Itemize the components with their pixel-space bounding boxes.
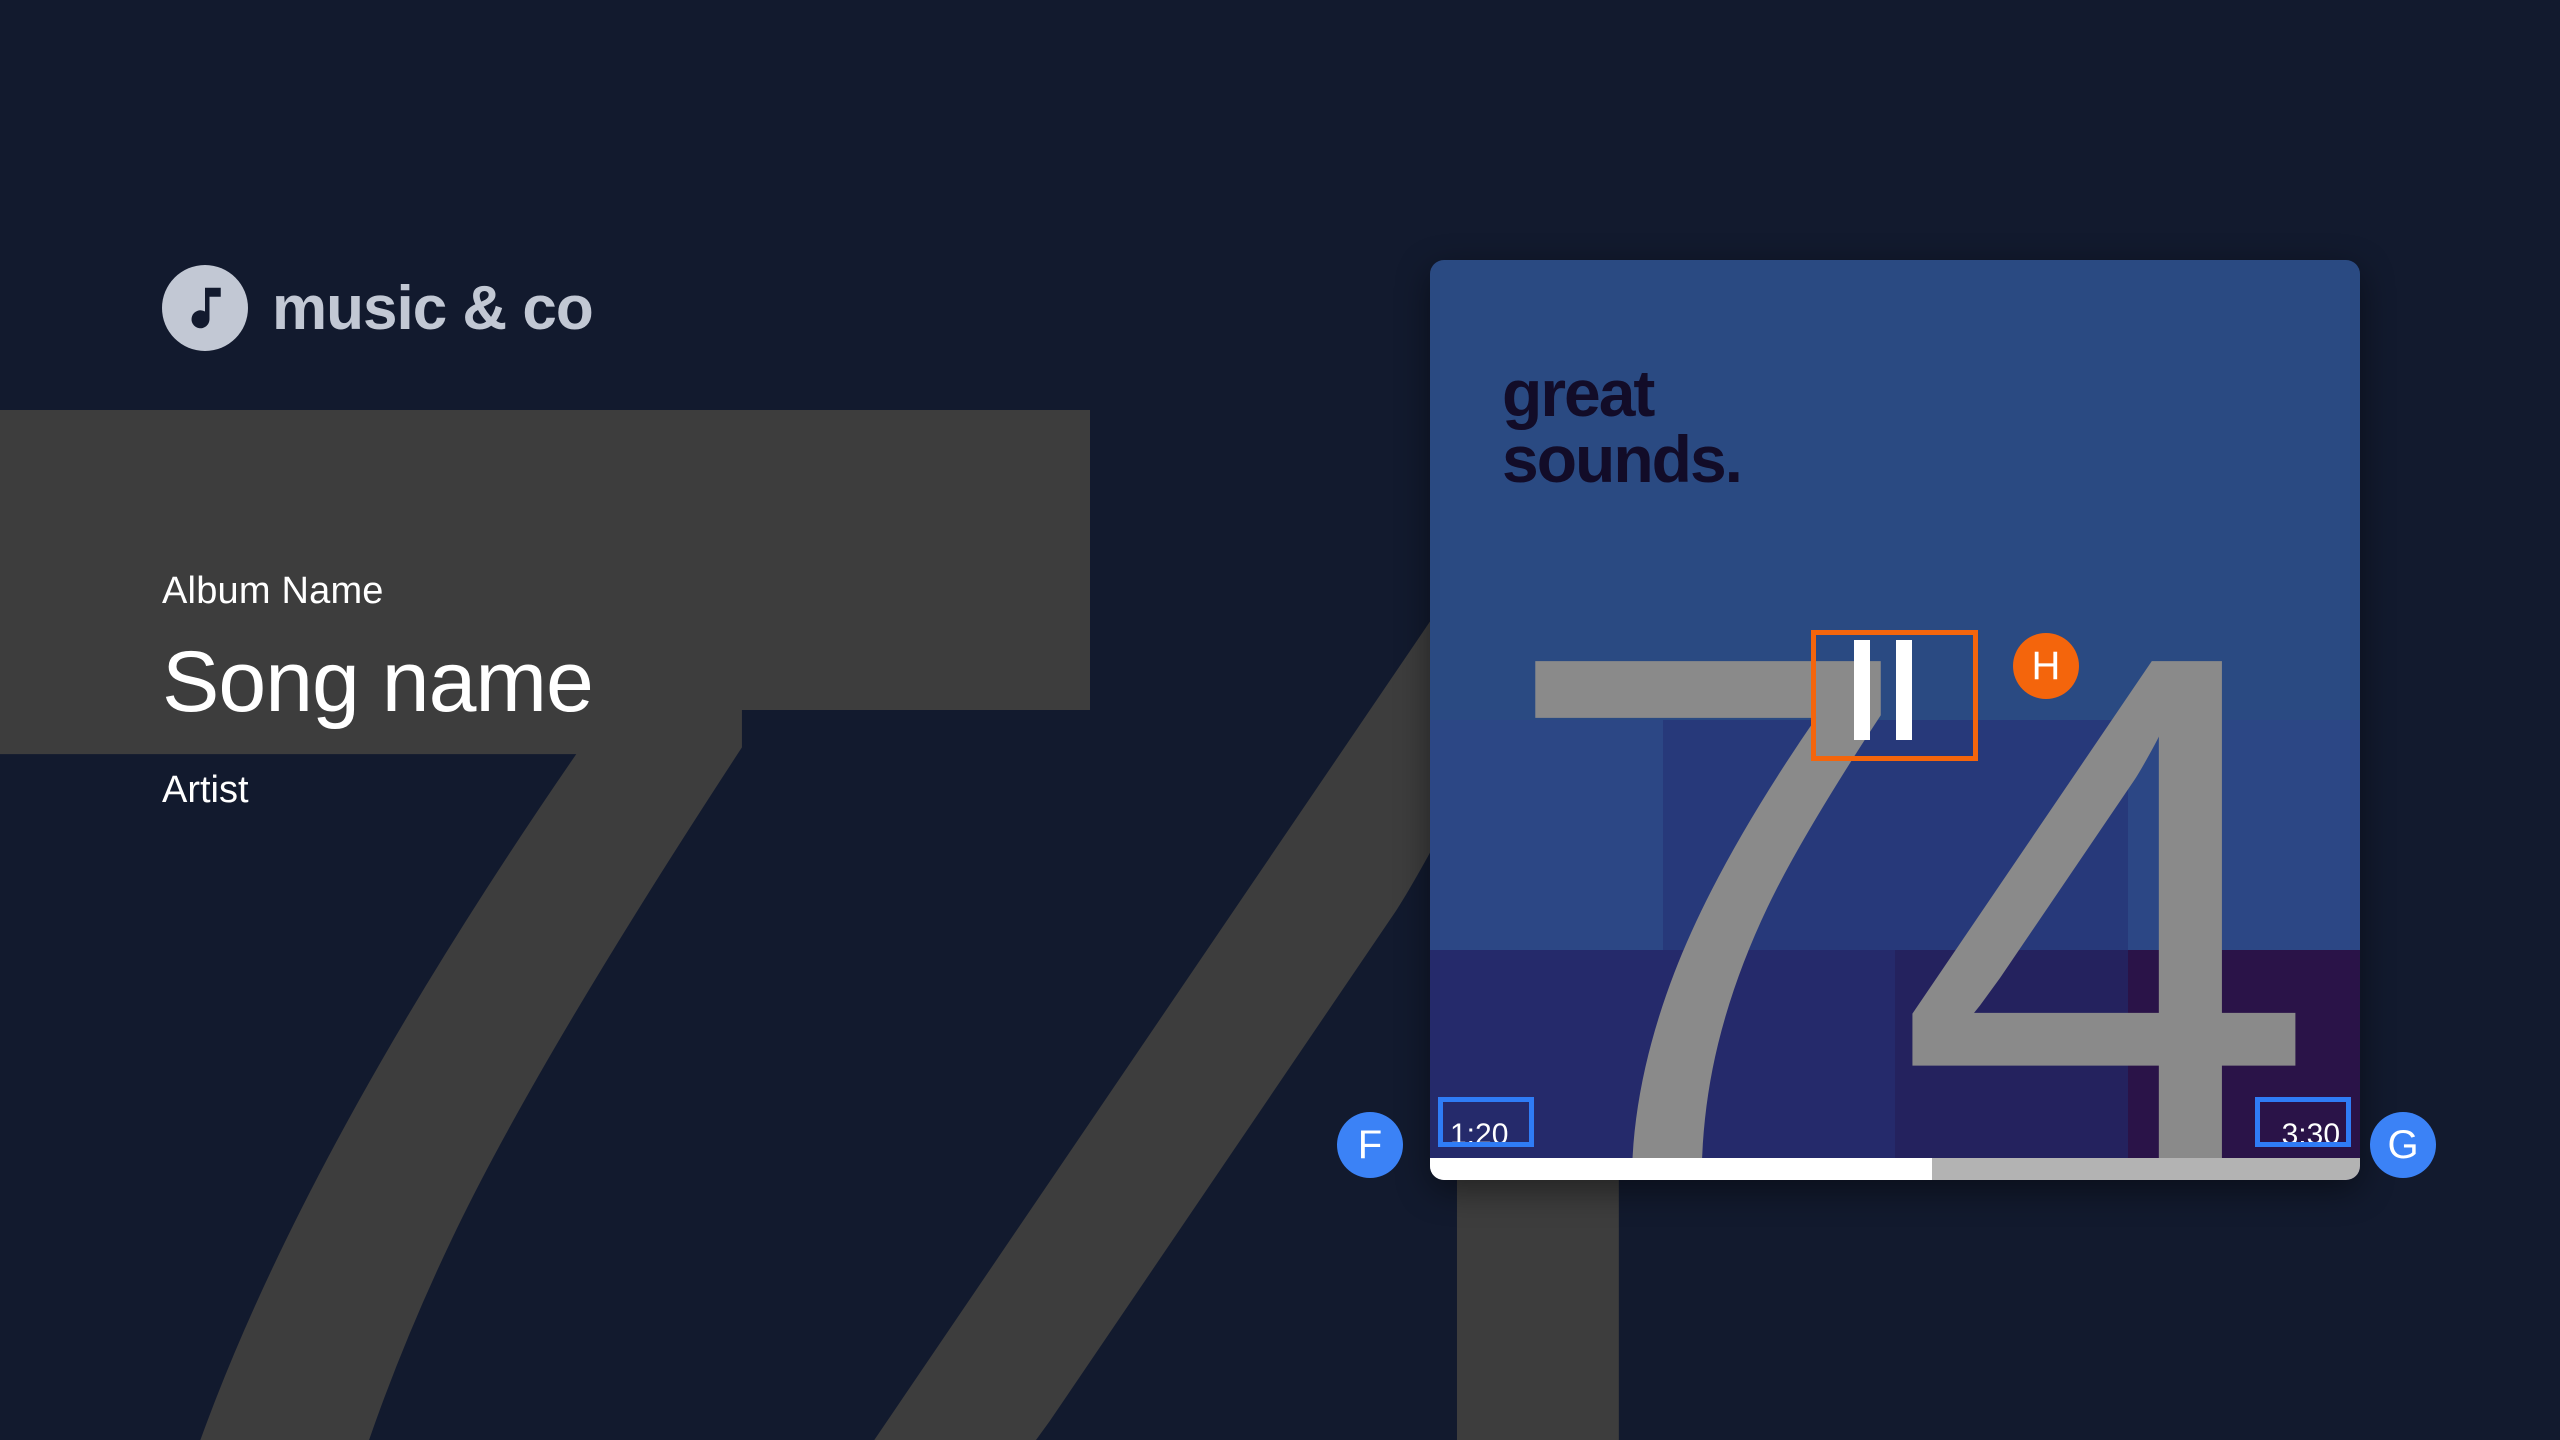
album-art-card: greatsounds. 74 1:20 3:30 (1430, 260, 2360, 1180)
progress-bar[interactable] (1430, 1158, 2360, 1180)
album-art-title-line1: great (1502, 356, 1653, 430)
annotation-badge-f: F (1337, 1112, 1403, 1178)
pause-button[interactable] (1840, 630, 1926, 750)
album-art-cell-2 (1895, 260, 2128, 490)
album-art-cell-3 (2128, 260, 2361, 490)
now-playing-info: Album Name Song name Artist (162, 570, 593, 812)
album-art-title-line2: sounds. (1502, 422, 1741, 496)
duration-time-label: 3:30 (2274, 1114, 2348, 1158)
song-name-label: Song name (162, 639, 593, 727)
progress-bar-fill (1430, 1158, 1932, 1180)
artist-name-label: Artist (162, 769, 593, 812)
brand-name: music & co (272, 273, 593, 344)
music-note-icon (162, 265, 248, 351)
annotation-badge-g: G (2370, 1112, 2436, 1178)
album-art-title: greatsounds. (1502, 360, 1741, 492)
album-name-label: Album Name (162, 570, 593, 613)
brand-logo[interactable]: music & co (162, 265, 593, 351)
annotation-badge-h: H (2013, 633, 2079, 699)
pause-icon-bar-left (1854, 640, 1870, 740)
pause-icon-bar-right (1896, 640, 1912, 740)
player-screen: 74 music & co Album Name Song name Artis… (0, 0, 2560, 1440)
elapsed-time-label: 1:20 (1442, 1114, 1516, 1158)
